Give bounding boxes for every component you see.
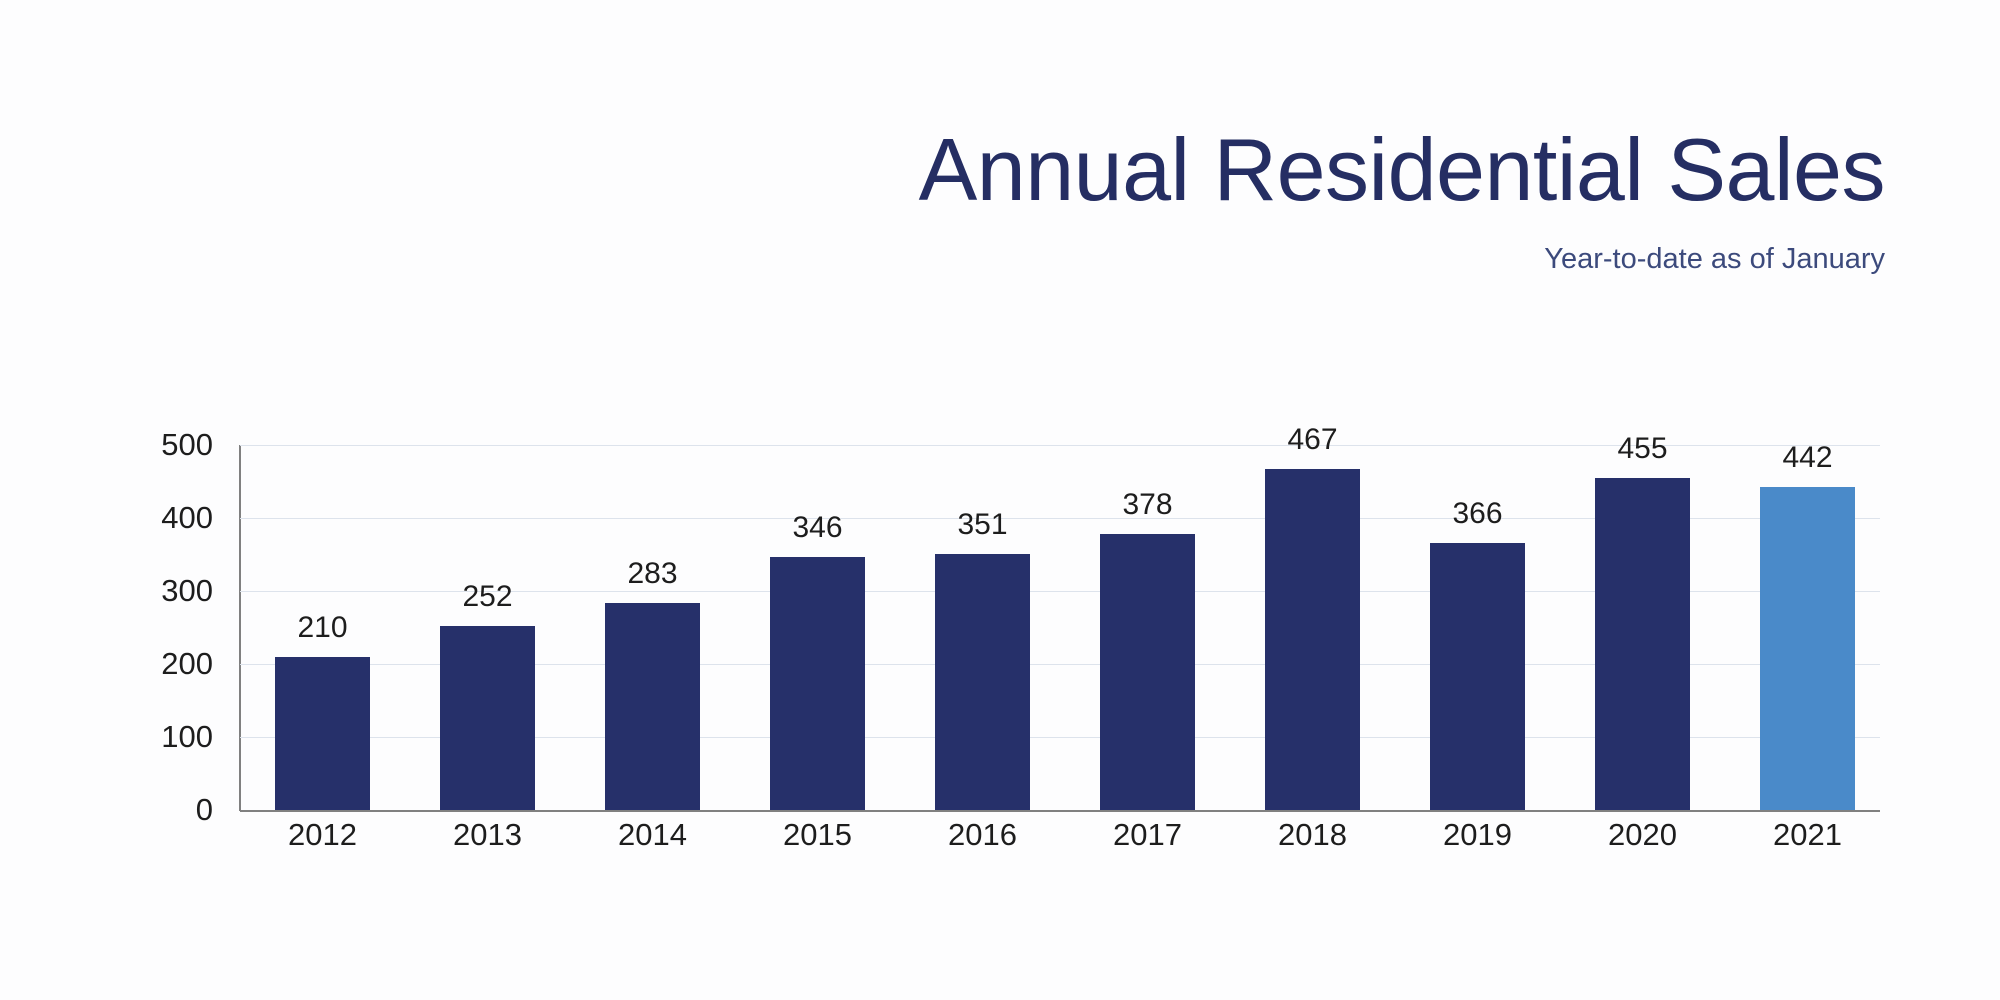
x-axis-tick-label: 2014 (570, 819, 735, 850)
bar-value-label: 366 (1395, 499, 1560, 529)
y-axis-tick-label: 100 (13, 721, 213, 752)
bar-2015[interactable] (770, 557, 865, 810)
y-axis-tick-label: 300 (13, 575, 213, 606)
bar-group: 2102012 (240, 445, 405, 810)
x-axis-tick-label: 2016 (900, 819, 1065, 850)
bar-group: 3462015 (735, 445, 900, 810)
bar-2012[interactable] (275, 657, 370, 810)
x-axis-tick-label: 2021 (1725, 819, 1890, 850)
bar-value-label: 351 (900, 510, 1065, 540)
bar-2016[interactable] (935, 554, 1030, 810)
x-axis-tick-label: 2012 (240, 819, 405, 850)
bar-2014[interactable] (605, 603, 700, 810)
bar-group: 3662019 (1395, 445, 1560, 810)
bar-group: 4552020 (1560, 445, 1725, 810)
x-axis-tick-label: 2015 (735, 819, 900, 850)
bar-2019[interactable] (1430, 543, 1525, 810)
y-axis-tick-label: 400 (13, 502, 213, 533)
bar-2018[interactable] (1265, 469, 1360, 810)
y-axis-tick-label: 200 (13, 648, 213, 679)
bar-value-label: 252 (405, 582, 570, 612)
bar-group: 2832014 (570, 445, 735, 810)
bar-value-label: 455 (1560, 434, 1725, 464)
bar-value-label: 378 (1065, 490, 1230, 520)
bar-group: 4672018 (1230, 445, 1395, 810)
x-axis-tick-label: 2013 (405, 819, 570, 850)
bar-value-label: 346 (735, 513, 900, 543)
slide-canvas: Annual Residential Sales Year-to-date as… (0, 0, 2000, 1000)
bar-chart: 0100200300400500 21020122522013283201434… (0, 0, 2000, 1000)
bar-2013[interactable] (440, 626, 535, 810)
bar-group: 2522013 (405, 445, 570, 810)
x-axis-line (240, 810, 1880, 812)
bar-value-label: 442 (1725, 443, 1890, 473)
plot-area: 2102012252201328320143462015351201637820… (240, 445, 1880, 810)
x-axis-tick-label: 2019 (1395, 819, 1560, 850)
y-axis-tick-label: 0 (13, 794, 213, 825)
bar-2020[interactable] (1595, 478, 1690, 810)
bar-group: 3512016 (900, 445, 1065, 810)
bar-value-label: 283 (570, 559, 735, 589)
y-axis-tick-labels: 0100200300400500 (0, 0, 213, 1000)
x-axis-tick-label: 2017 (1065, 819, 1230, 850)
bar-value-label: 467 (1230, 425, 1395, 455)
bar-2017[interactable] (1100, 534, 1195, 810)
y-axis-tick-label: 500 (13, 429, 213, 460)
bar-2021[interactable] (1760, 487, 1855, 810)
bar-group: 3782017 (1065, 445, 1230, 810)
x-axis-tick-label: 2020 (1560, 819, 1725, 850)
bar-value-label: 210 (240, 613, 405, 643)
x-axis-tick-label: 2018 (1230, 819, 1395, 850)
bar-group: 4422021 (1725, 445, 1890, 810)
